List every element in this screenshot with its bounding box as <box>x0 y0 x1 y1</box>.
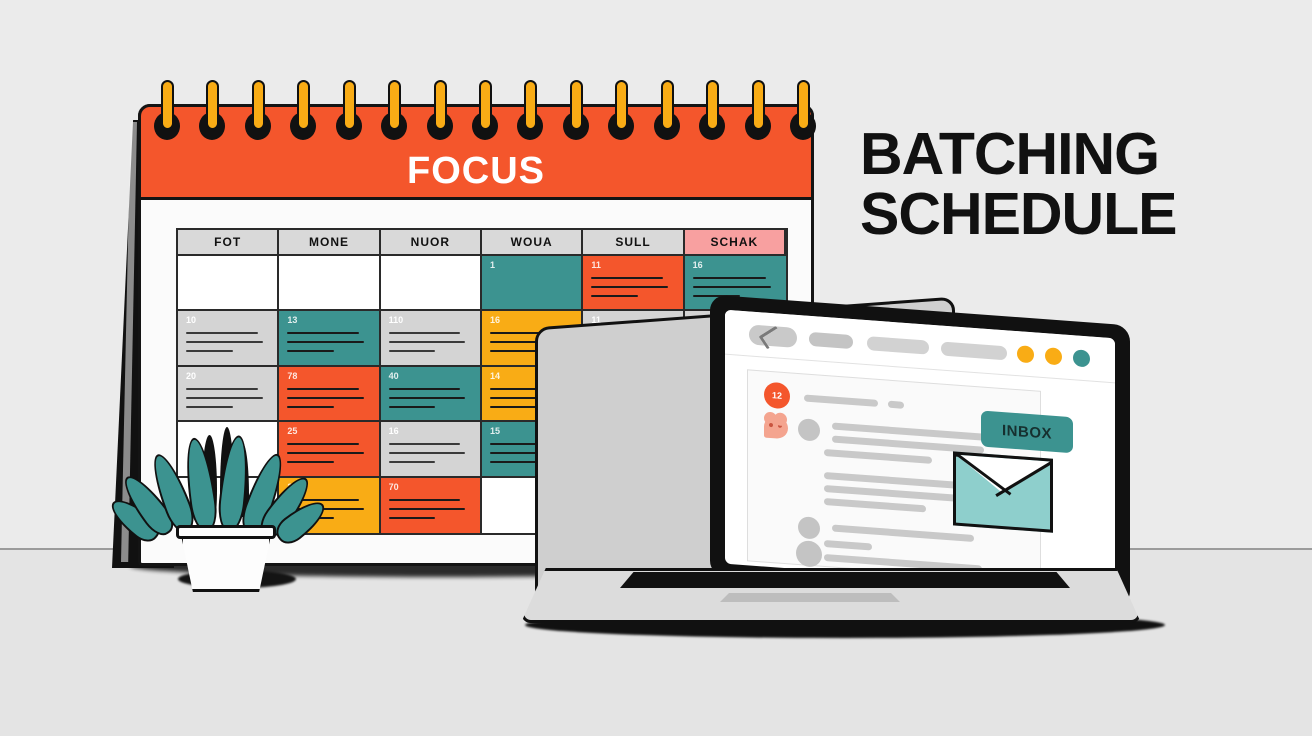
webcam-icon <box>929 317 936 325</box>
spiral-ring <box>288 78 318 148</box>
tab-pill[interactable] <box>867 336 929 355</box>
spiral-ring <box>561 78 591 148</box>
calendar-day-header: WOUA <box>482 230 583 256</box>
spiral-ring <box>606 78 636 148</box>
title-line-2: SCHEDULE <box>860 184 1280 244</box>
list-item <box>804 394 878 406</box>
avatar <box>796 540 822 568</box>
laptop: 12 INBOX <box>505 300 1165 640</box>
spiral-ring <box>788 78 818 148</box>
spiral-ring <box>152 78 182 148</box>
plant-pot-rim <box>176 525 276 539</box>
calendar-cell[interactable]: 10 <box>178 311 279 366</box>
spiral-ring <box>515 78 545 148</box>
list-item <box>824 498 926 512</box>
plant-pot <box>180 530 272 592</box>
spiral-ring <box>334 78 364 148</box>
spiral-ring <box>470 78 500 148</box>
inbox-button[interactable]: INBOX <box>981 410 1073 453</box>
potted-agave-plant <box>140 425 305 585</box>
calendar-header-label: FOCUS <box>138 150 814 193</box>
spiral-ring <box>379 78 409 148</box>
calendar-day-header: SCHAK <box>685 230 786 256</box>
notification-badge[interactable]: 12 <box>764 382 790 410</box>
page-title: BATCHING SCHEDULE <box>860 124 1280 244</box>
laptop-trackpad[interactable] <box>720 593 900 602</box>
title-line-1: BATCHING <box>860 121 1159 187</box>
calendar-cell[interactable] <box>178 256 279 311</box>
teal-dot-icon[interactable] <box>1073 349 1090 367</box>
list-item <box>824 540 872 551</box>
illustration-canvas: BATCHING SCHEDULE FOCUS FOTMONENUORWOUAS… <box>0 0 1312 736</box>
envelope-icon <box>953 451 1053 532</box>
tab-pill[interactable] <box>941 342 1007 361</box>
amber-dot-icon[interactable] <box>1045 347 1062 365</box>
list-item <box>832 525 974 542</box>
laptop-screen[interactable]: 12 INBOX <box>725 310 1115 593</box>
calendar-day-header: NUOR <box>381 230 482 256</box>
calendar-day-header: SULL <box>583 230 684 256</box>
spiral-binding <box>138 78 814 148</box>
laptop-keyboard[interactable] <box>620 572 1070 588</box>
spiral-ring <box>743 78 773 148</box>
calendar-cell[interactable]: 70 <box>381 478 482 533</box>
calendar-cell[interactable]: 13 <box>279 311 380 366</box>
spiral-ring <box>652 78 682 148</box>
calendar-cell[interactable]: 20 <box>178 367 279 422</box>
calendar-day-header: MONE <box>279 230 380 256</box>
heart-emoji-icon <box>764 416 788 440</box>
list-item <box>824 449 932 464</box>
calendar-cell[interactable] <box>279 256 380 311</box>
calendar-cell[interactable]: 78 <box>279 367 380 422</box>
calendar-day-header: FOT <box>178 230 279 256</box>
tab-pill[interactable] <box>809 332 853 349</box>
spiral-ring <box>197 78 227 148</box>
calendar-cell[interactable]: 40 <box>381 367 482 422</box>
avatar <box>798 516 820 540</box>
calendar-cell[interactable]: 16 <box>381 422 482 477</box>
spiral-ring <box>425 78 455 148</box>
list-item <box>888 401 904 409</box>
calendar-cell[interactable]: 110 <box>381 311 482 366</box>
amber-dot-icon[interactable] <box>1017 345 1034 363</box>
spiral-ring <box>697 78 727 148</box>
calendar-cell[interactable] <box>381 256 482 311</box>
spiral-ring <box>243 78 273 148</box>
avatar <box>798 418 820 442</box>
